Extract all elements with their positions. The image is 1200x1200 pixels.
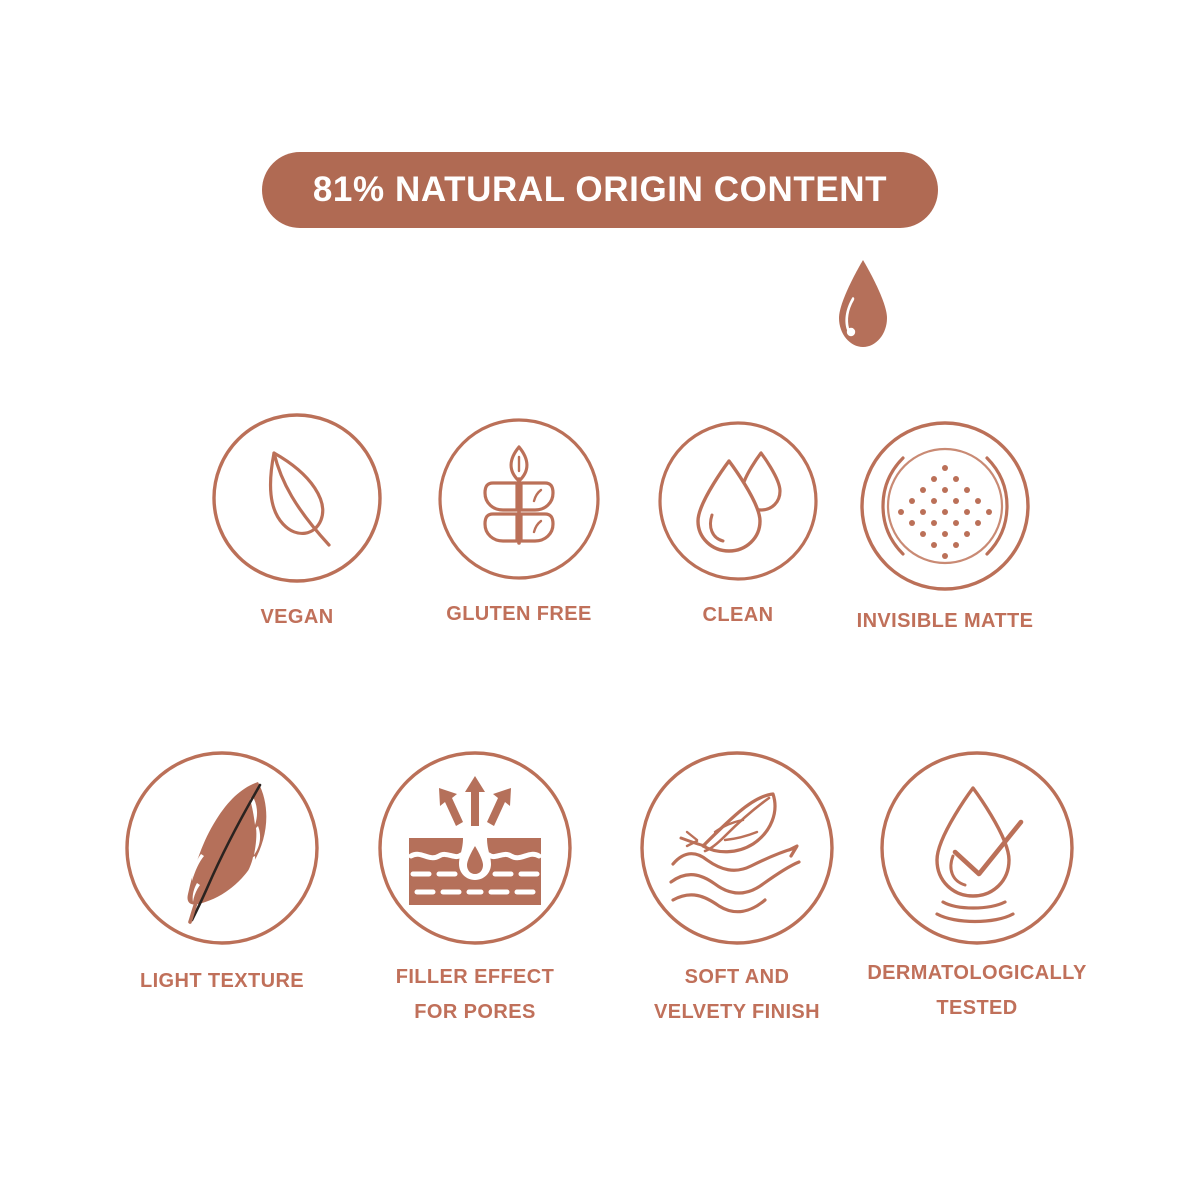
natural-origin-banner: 81% NATURAL ORIGIN CONTENT [262,152,938,228]
feature-item-soft-velvety: SOFT AND VELVETY FINISH [637,750,837,1030]
feature-item-vegan: VEGAN [197,412,397,635]
feature-label-line1: DERMATOLOGICALLY [857,956,1097,991]
feather-fabric-icon [639,750,835,946]
feature-item-filler-effect: FILLER EFFECT FOR PORES [375,750,575,1030]
feature-item-dermatologically-tested: DERMATOLOGICALLY TESTED [877,750,1077,1026]
feature-label: FILLER EFFECT FOR PORES [375,960,575,1030]
feature-label: LIGHT TEXTURE [122,964,322,999]
leaf-icon [211,412,383,584]
feature-item-gluten-free: GLUTEN FREE [419,417,619,632]
feature-label-line2: FOR PORES [375,995,575,1030]
feature-item-clean: CLEAN [638,420,838,633]
feature-label-line2: VELVETY FINISH [637,995,837,1030]
feature-label: INVISIBLE MATTE [845,604,1045,639]
feature-item-light-texture: LIGHT TEXTURE [122,750,322,999]
feature-label: DERMATOLOGICALLY TESTED [857,956,1097,1026]
wheat-icon [437,417,601,581]
banner-text: 81% NATURAL ORIGIN CONTENT [313,170,887,210]
feature-label-line1: SOFT AND [637,960,837,995]
feather-filled-icon [124,750,320,946]
droplet-check-icon [879,750,1075,946]
feature-label: SOFT AND VELVETY FINISH [637,960,837,1030]
feature-label: GLUTEN FREE [419,597,619,632]
feature-row-2: LIGHT TEXTURE [0,742,1200,1042]
feature-row-1: VEGAN [0,412,1200,662]
feature-label-line1: FILLER EFFECT [375,960,575,995]
feature-label: VEGAN [197,600,397,635]
feature-label: CLEAN [638,598,838,633]
droplet-filled-icon [833,258,893,350]
infographic-root: 81% NATURAL ORIGIN CONTENT VEGAN [0,0,1200,1200]
skin-pore-icon [377,750,573,946]
matte-dots-icon [859,420,1031,592]
feature-item-invisible-matte: INVISIBLE MATTE [845,420,1045,639]
feature-label-line2: TESTED [857,991,1097,1026]
water-droplets-icon [657,420,819,582]
